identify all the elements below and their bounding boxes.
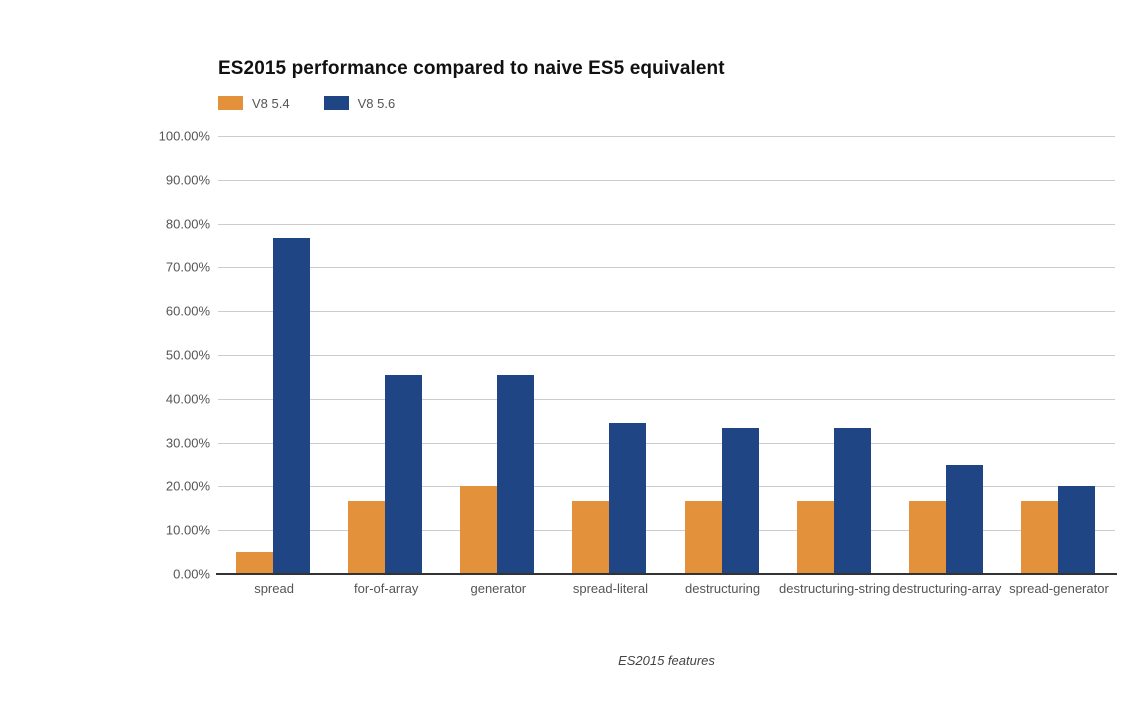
y-axis-tick-label: 50.00% <box>60 348 210 363</box>
x-axis-category-label: generator <box>442 580 554 598</box>
bar-group <box>667 136 779 574</box>
bar[interactable] <box>946 465 983 575</box>
bar-group <box>218 136 330 574</box>
bar[interactable] <box>909 501 946 574</box>
bar[interactable] <box>797 501 834 574</box>
bar[interactable] <box>722 428 759 574</box>
bar-group <box>442 136 554 574</box>
x-axis-category-label: spread <box>218 580 330 598</box>
chart-title: ES2015 performance compared to naive ES5… <box>218 58 725 80</box>
bar[interactable] <box>385 375 422 574</box>
y-axis-tick-label: 20.00% <box>60 479 210 494</box>
bar[interactable] <box>1058 486 1095 574</box>
y-axis-ticks: 0.00%10.00%20.00%30.00%40.00%50.00%60.00… <box>58 136 210 574</box>
bar[interactable] <box>572 501 609 574</box>
y-axis-tick-label: 40.00% <box>60 391 210 406</box>
y-axis-tick-label: 100.00% <box>60 129 210 144</box>
bar[interactable] <box>834 428 871 574</box>
bar-chart: ES2015 performance compared to naive ES5… <box>0 0 1147 709</box>
bar[interactable] <box>460 486 497 574</box>
bar-group <box>330 136 442 574</box>
y-axis-tick-label: 30.00% <box>60 435 210 450</box>
y-axis-tick-label: 10.00% <box>60 523 210 538</box>
y-axis-tick-label: 80.00% <box>60 216 210 231</box>
legend-label: V8 5.4 <box>252 96 290 111</box>
x-axis-category-label: for-of-array <box>330 580 442 598</box>
x-axis-category-label: destructuring-array <box>891 580 1003 598</box>
x-axis-category-label: destructuring <box>667 580 779 598</box>
x-axis-title: ES2015 features <box>218 653 1115 668</box>
chart-legend: V8 5.4V8 5.6 <box>218 95 395 111</box>
y-axis-tick-label: 90.00% <box>60 172 210 187</box>
legend-swatch-icon <box>218 96 243 110</box>
legend-label: V8 5.6 <box>358 96 396 111</box>
legend-item-v8-5-4[interactable]: V8 5.4 <box>218 96 290 111</box>
x-axis-category-labels: spreadfor-of-arraygeneratorspread-litera… <box>218 580 1115 640</box>
bar[interactable] <box>236 552 273 574</box>
legend-swatch-icon <box>324 96 349 110</box>
x-axis-category-label: spread-literal <box>554 580 666 598</box>
bar[interactable] <box>348 501 385 574</box>
y-axis-tick-label: 70.00% <box>60 260 210 275</box>
bar[interactable] <box>497 375 534 574</box>
bar[interactable] <box>609 423 646 574</box>
bar-group <box>1003 136 1115 574</box>
bar-group <box>554 136 666 574</box>
x-axis-category-label: spread-generator <box>1003 580 1115 598</box>
bar[interactable] <box>685 501 722 574</box>
bar[interactable] <box>1021 501 1058 574</box>
y-axis-tick-label: 60.00% <box>60 304 210 319</box>
bar[interactable] <box>273 238 310 574</box>
bar-groups <box>218 136 1115 574</box>
legend-item-v8-5-6[interactable]: V8 5.6 <box>324 96 396 111</box>
bar-group <box>891 136 1003 574</box>
bar-group <box>779 136 891 574</box>
y-axis-tick-label: 0.00% <box>60 567 210 582</box>
x-axis-category-label: destructuring-string <box>779 580 891 598</box>
x-axis-baseline <box>216 573 1117 575</box>
